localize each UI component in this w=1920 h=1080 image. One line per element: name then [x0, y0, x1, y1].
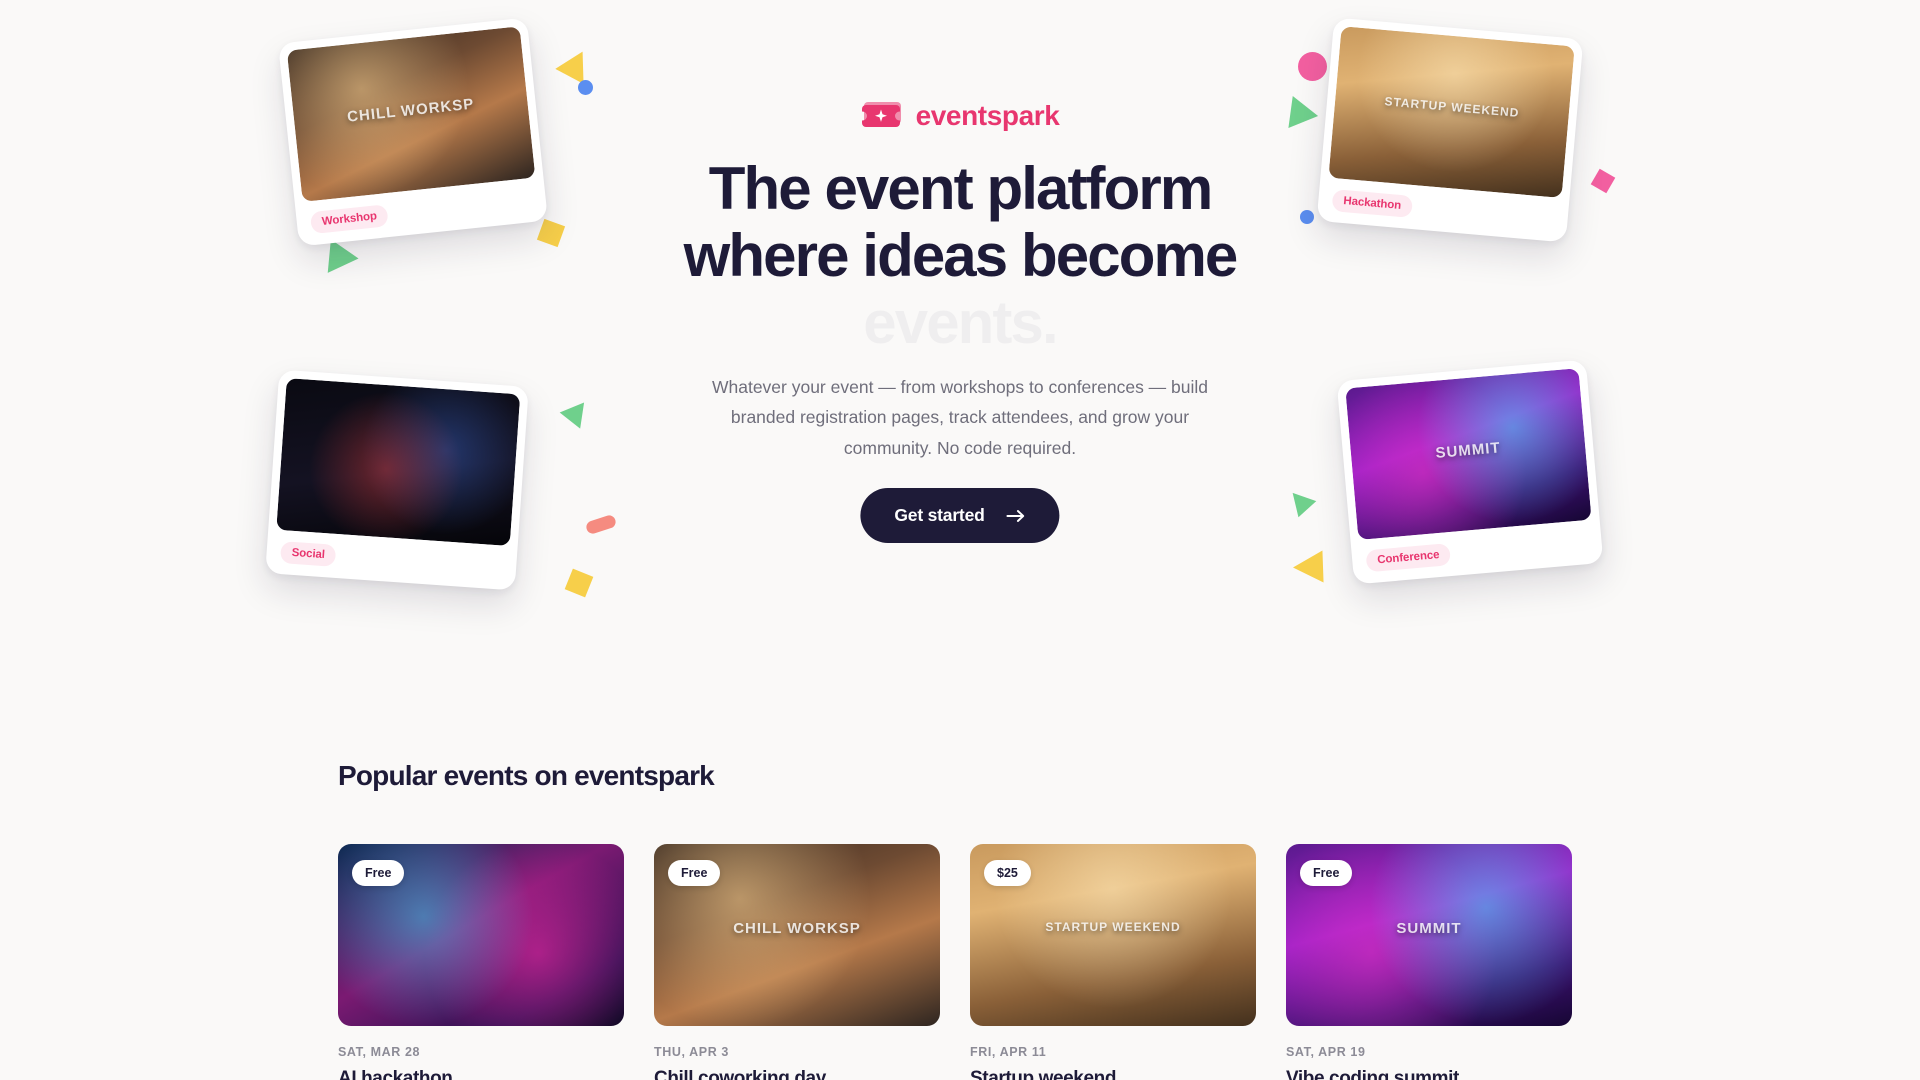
event-card-image: SUMMIT Free [1286, 844, 1572, 1026]
deco-green-triangle-mid [560, 394, 595, 428]
floating-card-image: SUMMIT [1345, 368, 1591, 540]
deco-blue-dot-left [578, 80, 593, 95]
floating-card-social[interactable]: Social [265, 370, 529, 591]
deco-coral-bar [585, 514, 618, 536]
event-price-badge: Free [1300, 860, 1352, 886]
event-price-badge: $25 [984, 860, 1031, 886]
event-title: Vibe coding summit [1286, 1068, 1572, 1080]
event-card[interactable]: CHILL WORKSP Free THU, APR 3 Chill cowor… [654, 844, 940, 1080]
event-price-badge: Free [352, 860, 404, 886]
popular-events-grid: Free SAT, MAR 28 AI hackathon CHILL WORK… [338, 844, 1920, 1080]
hero-cta-wrapper: Get started [860, 488, 1059, 543]
landing-page: CHILL WORKSP Workshop STARTUP WEEKEND Ha… [0, 0, 1920, 1080]
event-image-caption: STARTUP WEEKEND [970, 920, 1256, 934]
deco-pink-dot-right [1298, 52, 1327, 81]
floating-card-image [276, 378, 520, 546]
get-started-label: Get started [894, 505, 984, 526]
event-image-caption: SUMMIT [1286, 920, 1572, 937]
event-title: AI hackathon [338, 1068, 624, 1080]
popular-events-section: Popular events on eventspark Free SAT, M… [0, 760, 1920, 1080]
event-card-image: CHILL WORKSP Free [654, 844, 940, 1026]
event-card-image: STARTUP WEEKEND $25 [970, 844, 1256, 1026]
brand-logo[interactable]: eventspark [0, 100, 1920, 132]
event-title: Chill coworking day [654, 1068, 940, 1080]
floating-card-chip: Workshop [310, 204, 389, 234]
deco-yellow-triangle-right-lower [1292, 550, 1323, 583]
hero-title-line-3: events. [460, 289, 1460, 356]
hero-section: CHILL WORKSP Workshop STARTUP WEEKEND Ha… [0, 0, 1920, 700]
floating-card-conference[interactable]: SUMMIT Conference [1337, 359, 1604, 584]
event-date: FRI, APR 11 [970, 1045, 1256, 1059]
arrow-right-icon [1007, 509, 1026, 523]
get-started-button[interactable]: Get started [860, 488, 1059, 543]
event-card[interactable]: STARTUP WEEKEND $25 FRI, APR 11 Startup … [970, 844, 1256, 1080]
event-card[interactable]: SUMMIT Free SAT, APR 19 Vibe coding summ… [1286, 844, 1572, 1080]
floating-card-chip: Social [280, 541, 337, 567]
hero-title-line-1: The event platform [460, 155, 1460, 222]
event-date: SAT, APR 19 [1286, 1045, 1572, 1059]
ticket-sparkle-icon [861, 101, 903, 131]
event-date: THU, APR 3 [654, 1045, 940, 1059]
event-date: SAT, MAR 28 [338, 1045, 624, 1059]
brand-name: eventspark [916, 100, 1060, 132]
event-price-badge: Free [668, 860, 720, 886]
hero-subtitle: Whatever your event — from workshops to … [700, 372, 1220, 463]
deco-yellow-triangle-left [555, 44, 596, 84]
floating-card-chip: Conference [1365, 543, 1451, 572]
event-image-caption: CHILL WORKSP [654, 920, 940, 937]
event-title: Startup weekend [970, 1068, 1256, 1080]
event-card-image: Free [338, 844, 624, 1026]
deco-yellow-square-lower [565, 569, 594, 598]
event-card[interactable]: Free SAT, MAR 28 AI hackathon [338, 844, 624, 1080]
hero-title-line-2: where ideas become [460, 222, 1460, 289]
hero-title: The event platform where ideas become ev… [460, 155, 1460, 357]
popular-events-heading: Popular events on eventspark [338, 760, 1920, 792]
deco-green-triangle-right-lower [1284, 485, 1317, 517]
deco-pink-square-right [1591, 169, 1616, 194]
